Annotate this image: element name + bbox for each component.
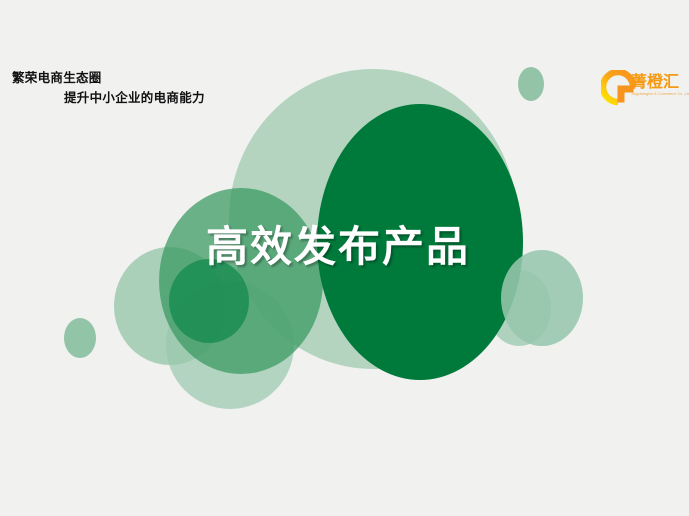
kicker-line-2: 提升中小企业的电商能力 bbox=[12, 88, 312, 108]
brand-logo[interactable]: 菁橙汇 Jingchenghui E-Commerce Co.,Ltd bbox=[601, 70, 687, 108]
logo-subtitle: Jingchenghui E-Commerce Co.,Ltd bbox=[631, 92, 686, 97]
decor-circle-right-front bbox=[501, 250, 583, 346]
logo-text-block: 菁橙汇 Jingchenghui E-Commerce Co.,Ltd bbox=[631, 74, 689, 97]
logo-name: 菁橙汇 bbox=[631, 74, 689, 92]
slide-title: 高效发布产品 bbox=[206, 222, 506, 272]
slide-kicker: 繁荣电商生态圈 提升中小企业的电商能力 bbox=[12, 68, 312, 108]
kicker-line-1: 繁荣电商生态圈 bbox=[12, 68, 312, 88]
decor-circle-top-right bbox=[518, 67, 544, 101]
decor-circle-dot bbox=[64, 318, 96, 358]
slide-canvas: 繁荣电商生态圈 提升中小企业的电商能力 高效发布产品 bbox=[0, 0, 689, 516]
